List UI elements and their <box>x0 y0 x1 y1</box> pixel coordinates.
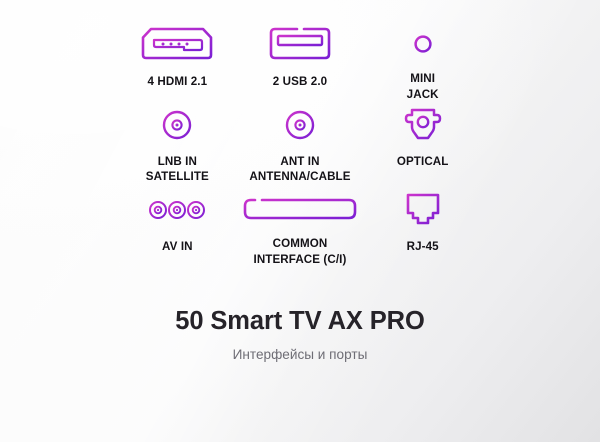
port-cell-rj45: RJ-45 <box>361 187 484 267</box>
page-subtitle: Интерфейсы и порты <box>0 347 600 363</box>
common-interface-port-icon <box>242 187 358 230</box>
port-infographic: 4 HDMI 2.1 2 USB 2.0 <box>0 0 600 442</box>
port-cell-antenna-cable: ANT IN ANTENNA/CABLE <box>239 102 362 187</box>
page-title: 50 Smart TV AX PRO <box>0 306 600 337</box>
port-label: ANT IN ANTENNA/CABLE <box>249 154 350 185</box>
port-cell-hdmi: 4 HDMI 2.1 <box>116 22 239 102</box>
port-label: OPTICAL <box>397 154 449 169</box>
ports-grid: 4 HDMI 2.1 2 USB 2.0 <box>116 22 484 267</box>
port-label: LNB IN SATELLITE <box>146 154 209 185</box>
antenna-cable-port-icon <box>283 102 317 148</box>
port-cell-lnb-satellite: LNB IN SATELLITE <box>116 102 239 187</box>
lnb-satellite-port-icon <box>160 102 194 148</box>
port-cell-optical: OPTICAL <box>361 102 484 187</box>
port-label: MINI JACK <box>407 71 439 102</box>
footer-titles: 50 Smart TV AX PRO Интерфейсы и порты <box>0 306 600 363</box>
port-label: 4 HDMI 2.1 <box>148 74 208 89</box>
port-cell-common-interface: COMMON INTERFACE (C/I) <box>239 187 362 267</box>
hdmi-port-icon <box>140 22 214 68</box>
usb-port-icon <box>268 22 332 68</box>
optical-port-icon <box>403 102 443 148</box>
port-label: COMMON INTERFACE (C/I) <box>254 236 347 267</box>
av-in-port-icon <box>148 187 206 233</box>
port-cell-av-in: AV IN <box>116 187 239 267</box>
rj45-port-icon <box>405 187 441 233</box>
port-cell-usb: 2 USB 2.0 <box>239 22 362 102</box>
port-cell-mini-jack: MINI JACK <box>361 22 484 102</box>
mini-jack-port-icon <box>410 22 436 65</box>
port-label: 2 USB 2.0 <box>273 74 327 89</box>
port-label: RJ-45 <box>407 239 439 254</box>
port-label: AV IN <box>162 239 193 254</box>
